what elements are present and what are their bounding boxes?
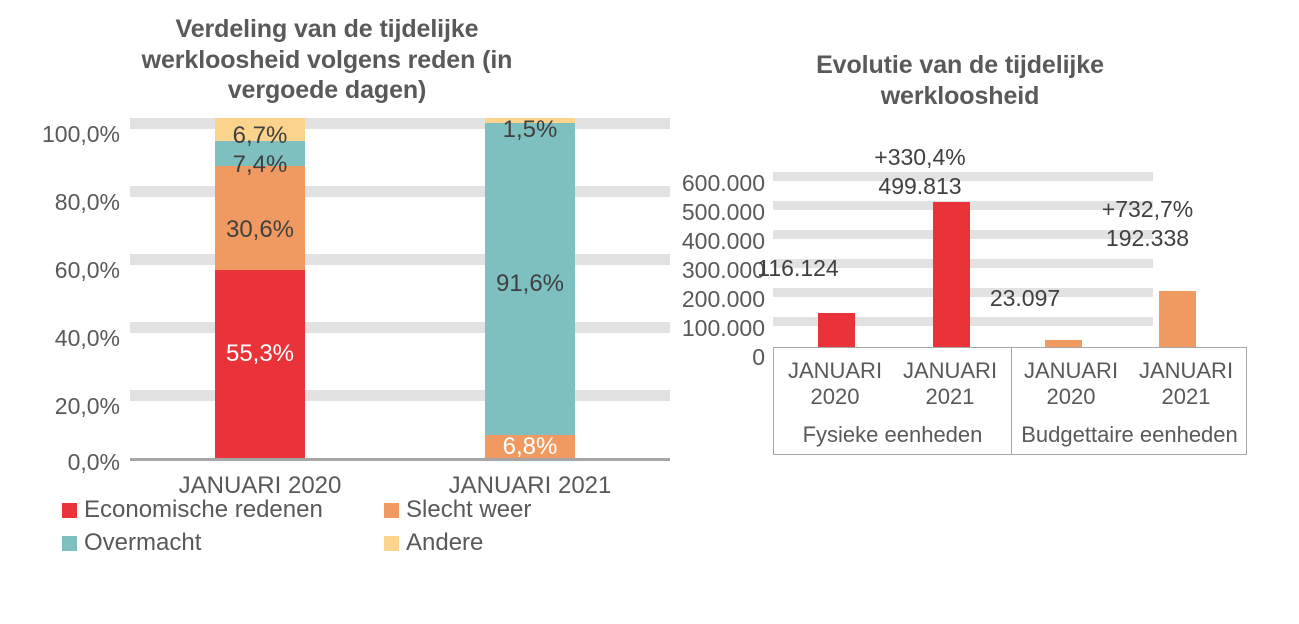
data-label-andere-2020: 6,7% bbox=[208, 122, 312, 150]
legend-label-slecht-weer: Slecht weer bbox=[406, 498, 531, 522]
y-tick-600000: 600.000 bbox=[645, 170, 765, 197]
chart-evolutie: Evolutie van de tijdelijke werkloosheid … bbox=[660, 0, 1299, 500]
growth-label-fysieke-2021: +330,4% bbox=[855, 144, 985, 171]
y-tick-40: 40,0% bbox=[0, 325, 120, 352]
bar-budgettaire-2020[interactable] bbox=[1045, 340, 1082, 347]
value-label-fysieke-2021: 499.813 bbox=[855, 173, 985, 200]
y-tick-100: 100,0% bbox=[0, 121, 120, 148]
x-axis-label-box: JANUARI2020 JANUARI2021 JANUARI2020 JANU… bbox=[773, 347, 1247, 455]
chart-verdeling: Verdeling van de tijdelijke werkloosheid… bbox=[0, 0, 690, 580]
data-label-slechtweer-2020: 30,6% bbox=[215, 216, 305, 244]
x-group-budgettaire-eenheden: Budgettaire eenheden bbox=[1012, 422, 1247, 448]
legend-swatch-slecht-weer bbox=[384, 503, 399, 518]
y-tick-0: 0 bbox=[645, 344, 765, 371]
chart-verdeling-plot: 55,3% 30,6% 7,4% 6,7% 6,8% 91,6% 1,5% bbox=[130, 118, 670, 461]
legend-label-economische-redenen: Economische redenen bbox=[84, 498, 323, 522]
x-axis-line bbox=[130, 458, 670, 461]
data-label-overmacht-2020: 7,4% bbox=[208, 151, 312, 179]
bar-fysieke-2021[interactable] bbox=[933, 202, 970, 347]
data-label-economische-2020: 55,3% bbox=[215, 340, 305, 368]
legend-label-andere: Andere bbox=[406, 531, 483, 555]
y-tick-0: 0,0% bbox=[0, 449, 120, 476]
y-tick-20: 20,0% bbox=[0, 393, 120, 420]
y-tick-200000: 200.000 bbox=[645, 286, 765, 313]
legend-item-economische-redenen[interactable]: Economische redenen bbox=[62, 498, 323, 522]
x-category-text: JANUARI2020 bbox=[1024, 358, 1118, 409]
value-label-budgettaire-2021: 192.338 bbox=[1080, 225, 1215, 252]
y-tick-500000: 500.000 bbox=[645, 199, 765, 226]
value-label-fysieke-2020: 116.124 bbox=[738, 255, 858, 282]
bar-budgettaire-2021[interactable] bbox=[1159, 291, 1196, 347]
y-tick-80: 80,0% bbox=[0, 189, 120, 216]
x-category-budgettaire-2020: JANUARI2020 bbox=[1014, 358, 1128, 410]
bar-fysieke-2020[interactable] bbox=[818, 313, 855, 347]
y-tick-60: 60,0% bbox=[0, 257, 120, 284]
x-category-budgettaire-2021: JANUARI2021 bbox=[1129, 358, 1243, 410]
x-category-text: JANUARI2021 bbox=[1139, 358, 1233, 409]
legend-item-slecht-weer[interactable]: Slecht weer bbox=[384, 498, 531, 522]
data-label-overmacht-2021: 91,6% bbox=[478, 270, 582, 298]
legend-swatch-overmacht bbox=[62, 536, 77, 551]
data-label-slechtweer-2021: 6,8% bbox=[478, 433, 582, 461]
chart-evolutie-title: Evolutie van de tijdelijke werkloosheid bbox=[745, 50, 1175, 111]
gridline-band bbox=[130, 390, 670, 401]
chart-verdeling-legend: Economische redenen Slecht weer Overmach… bbox=[62, 498, 662, 560]
x-group-fysieke-eenheden: Fysieke eenheden bbox=[776, 422, 1009, 448]
legend-item-overmacht[interactable]: Overmacht bbox=[62, 531, 201, 555]
gridline-band bbox=[130, 186, 670, 197]
y-tick-400000: 400.000 bbox=[645, 228, 765, 255]
legend-item-andere[interactable]: Andere bbox=[384, 531, 483, 555]
data-label-andere-2021: 1,5% bbox=[478, 116, 582, 144]
y-tick-100000: 100.000 bbox=[645, 315, 765, 342]
x-category-fysieke-2021: JANUARI2021 bbox=[893, 358, 1007, 410]
gridline-band bbox=[130, 254, 670, 265]
slide-canvas: Verdeling van de tijdelijke werkloosheid… bbox=[0, 0, 1299, 624]
x-category-text: JANUARI2020 bbox=[788, 358, 882, 409]
legend-swatch-economische-redenen bbox=[62, 503, 77, 518]
chart-verdeling-title: Verdeling van de tijdelijke werkloosheid… bbox=[112, 14, 542, 106]
x-category-text: JANUARI2021 bbox=[903, 358, 997, 409]
legend-label-overmacht: Overmacht bbox=[84, 531, 201, 555]
x-category-fysieke-2020: JANUARI2020 bbox=[778, 358, 892, 410]
legend-swatch-andere bbox=[384, 536, 399, 551]
gridline-band bbox=[130, 322, 670, 333]
value-label-budgettaire-2020: 23.097 bbox=[965, 285, 1085, 312]
growth-label-budgettaire-2021: +732,7% bbox=[1080, 196, 1215, 223]
